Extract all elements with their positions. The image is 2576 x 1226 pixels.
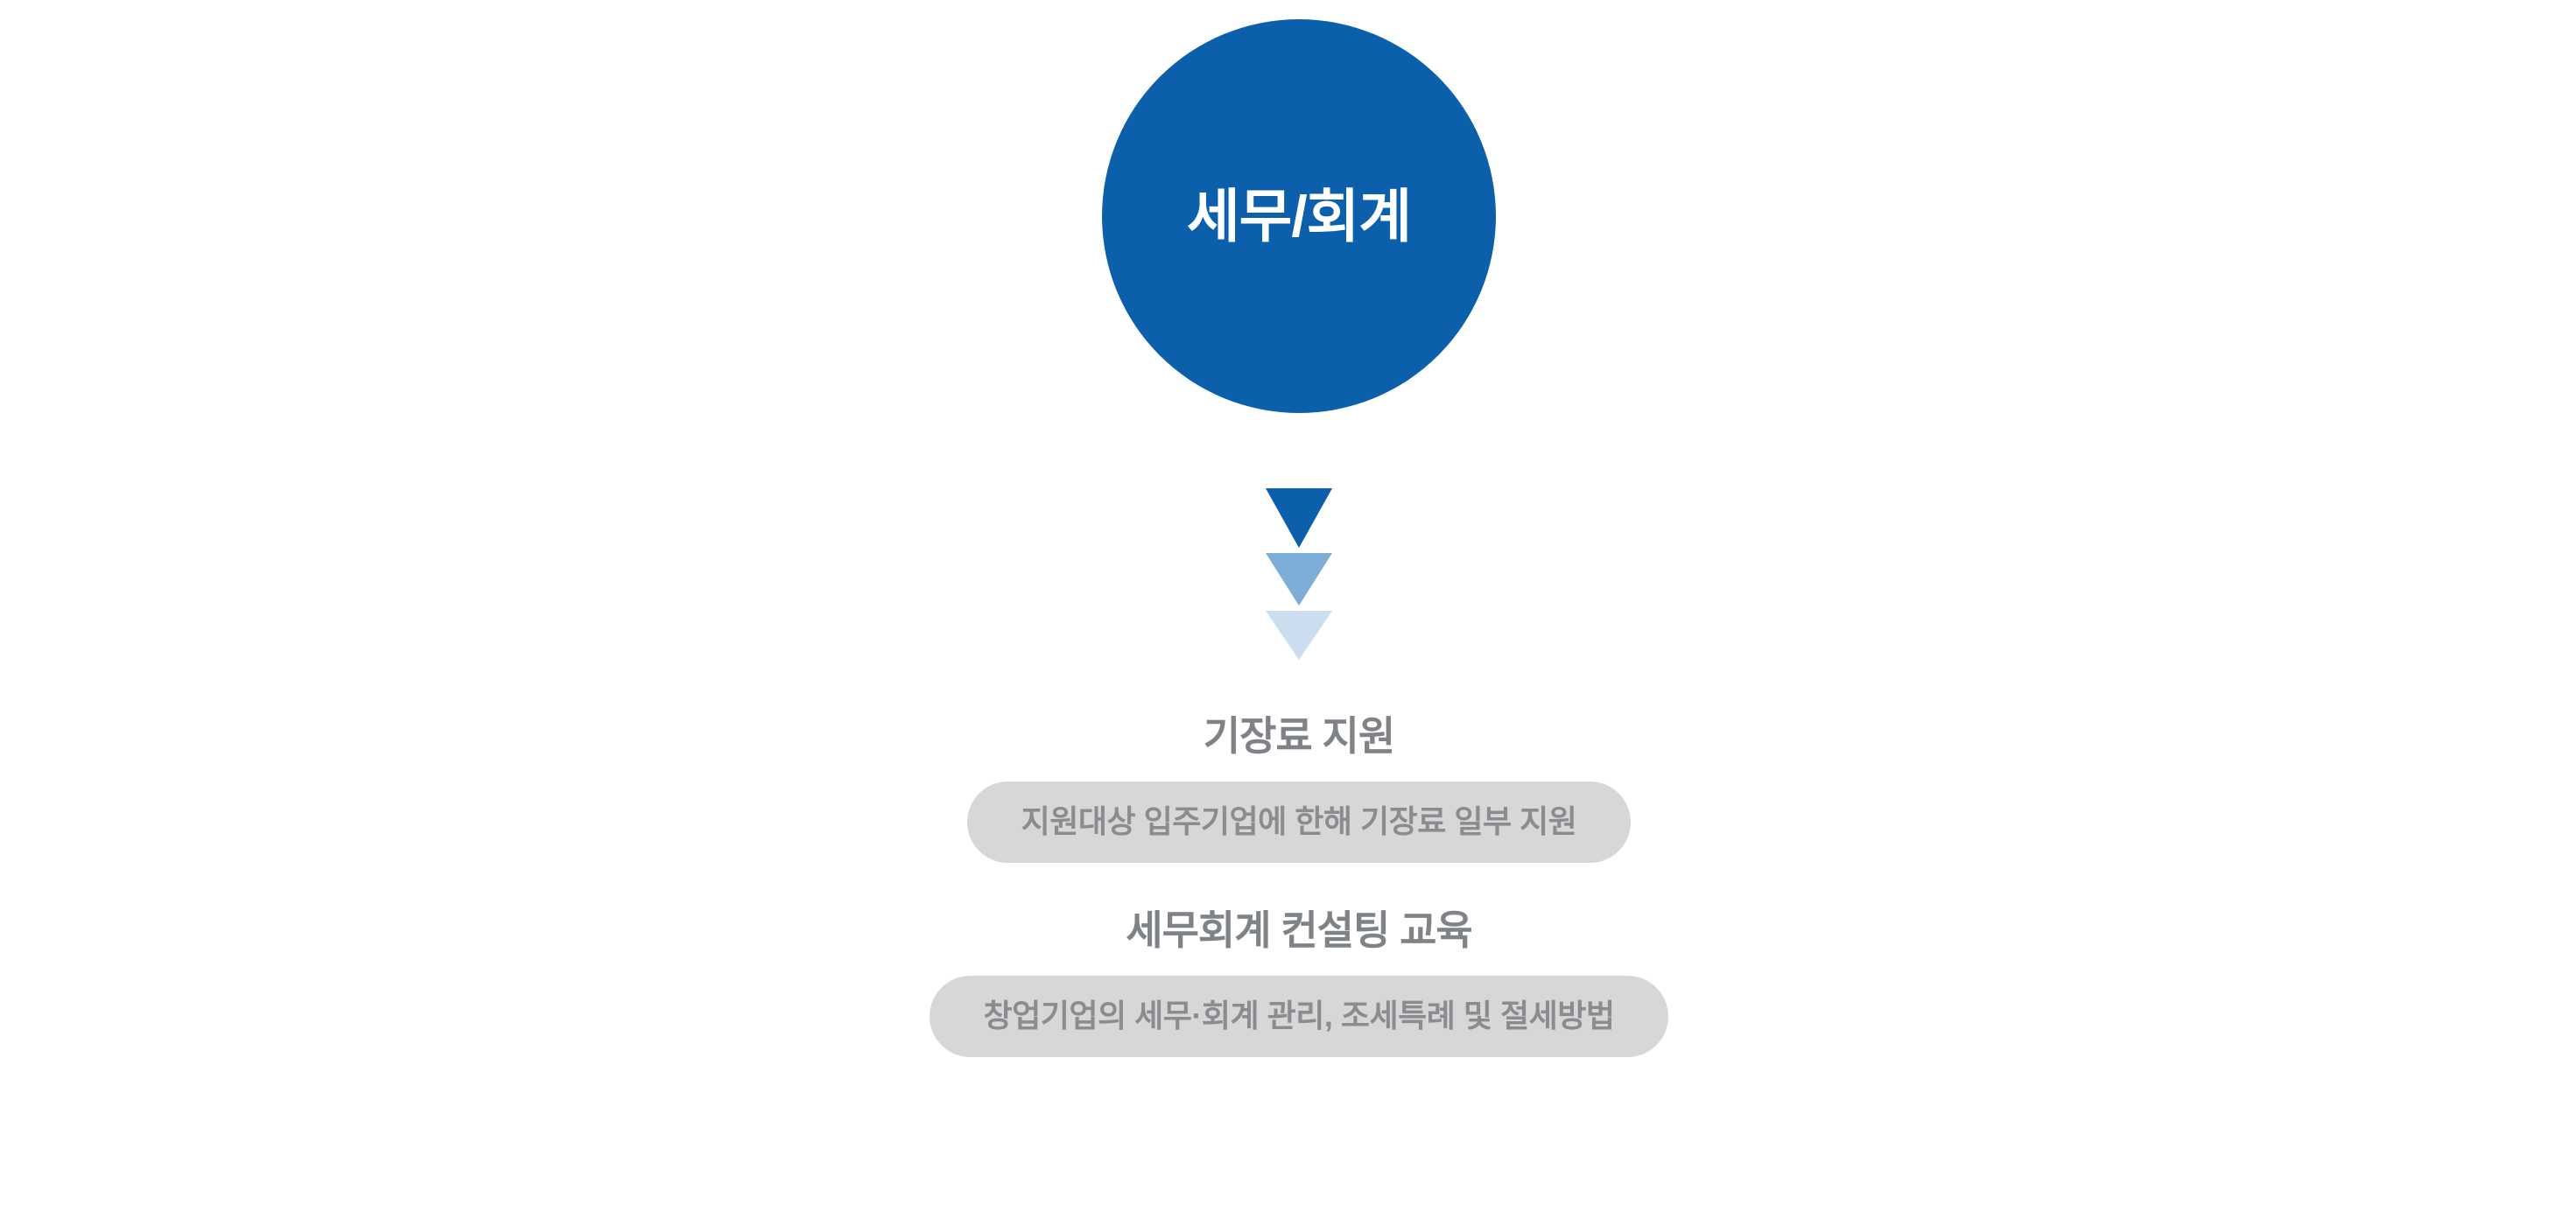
service-title-1: 기장료 지원	[1204, 712, 1394, 760]
arrow-stack	[1266, 488, 1332, 660]
diagram-center-column: 세무/회계 기장료 지원 지원대상 입주기업에 한해 기장료 일부 지원 세무회…	[0, 0, 2576, 1226]
hub-circle-label: 세무/회계	[1187, 187, 1411, 245]
service-description-pill-1: 지원대상 입주기업에 한해 기장료 일부 지원	[967, 781, 1632, 863]
down-arrow-icon-3	[1266, 611, 1332, 660]
diagram-canvas: 세무/회계 기장료 지원 지원대상 입주기업에 한해 기장료 일부 지원 세무회…	[0, 0, 2576, 1226]
hub-circle: 세무/회계	[1102, 19, 1496, 413]
down-arrow-icon-2	[1266, 553, 1332, 606]
service-list: 기장료 지원 지원대상 입주기업에 한해 기장료 일부 지원 세무회계 컨설팅 …	[930, 712, 1669, 1057]
service-block-1: 기장료 지원 지원대상 입주기업에 한해 기장료 일부 지원	[967, 712, 1632, 863]
service-block-2: 세무회계 컨설팅 교육 창업기업의 세무·회계 관리, 조세특례 및 절세방법	[930, 907, 1669, 1057]
service-description-pill-2: 창업기업의 세무·회계 관리, 조세특례 및 절세방법	[930, 976, 1669, 1057]
down-arrow-icon-1	[1266, 488, 1332, 548]
service-title-2: 세무회계 컨설팅 교육	[1126, 907, 1471, 955]
